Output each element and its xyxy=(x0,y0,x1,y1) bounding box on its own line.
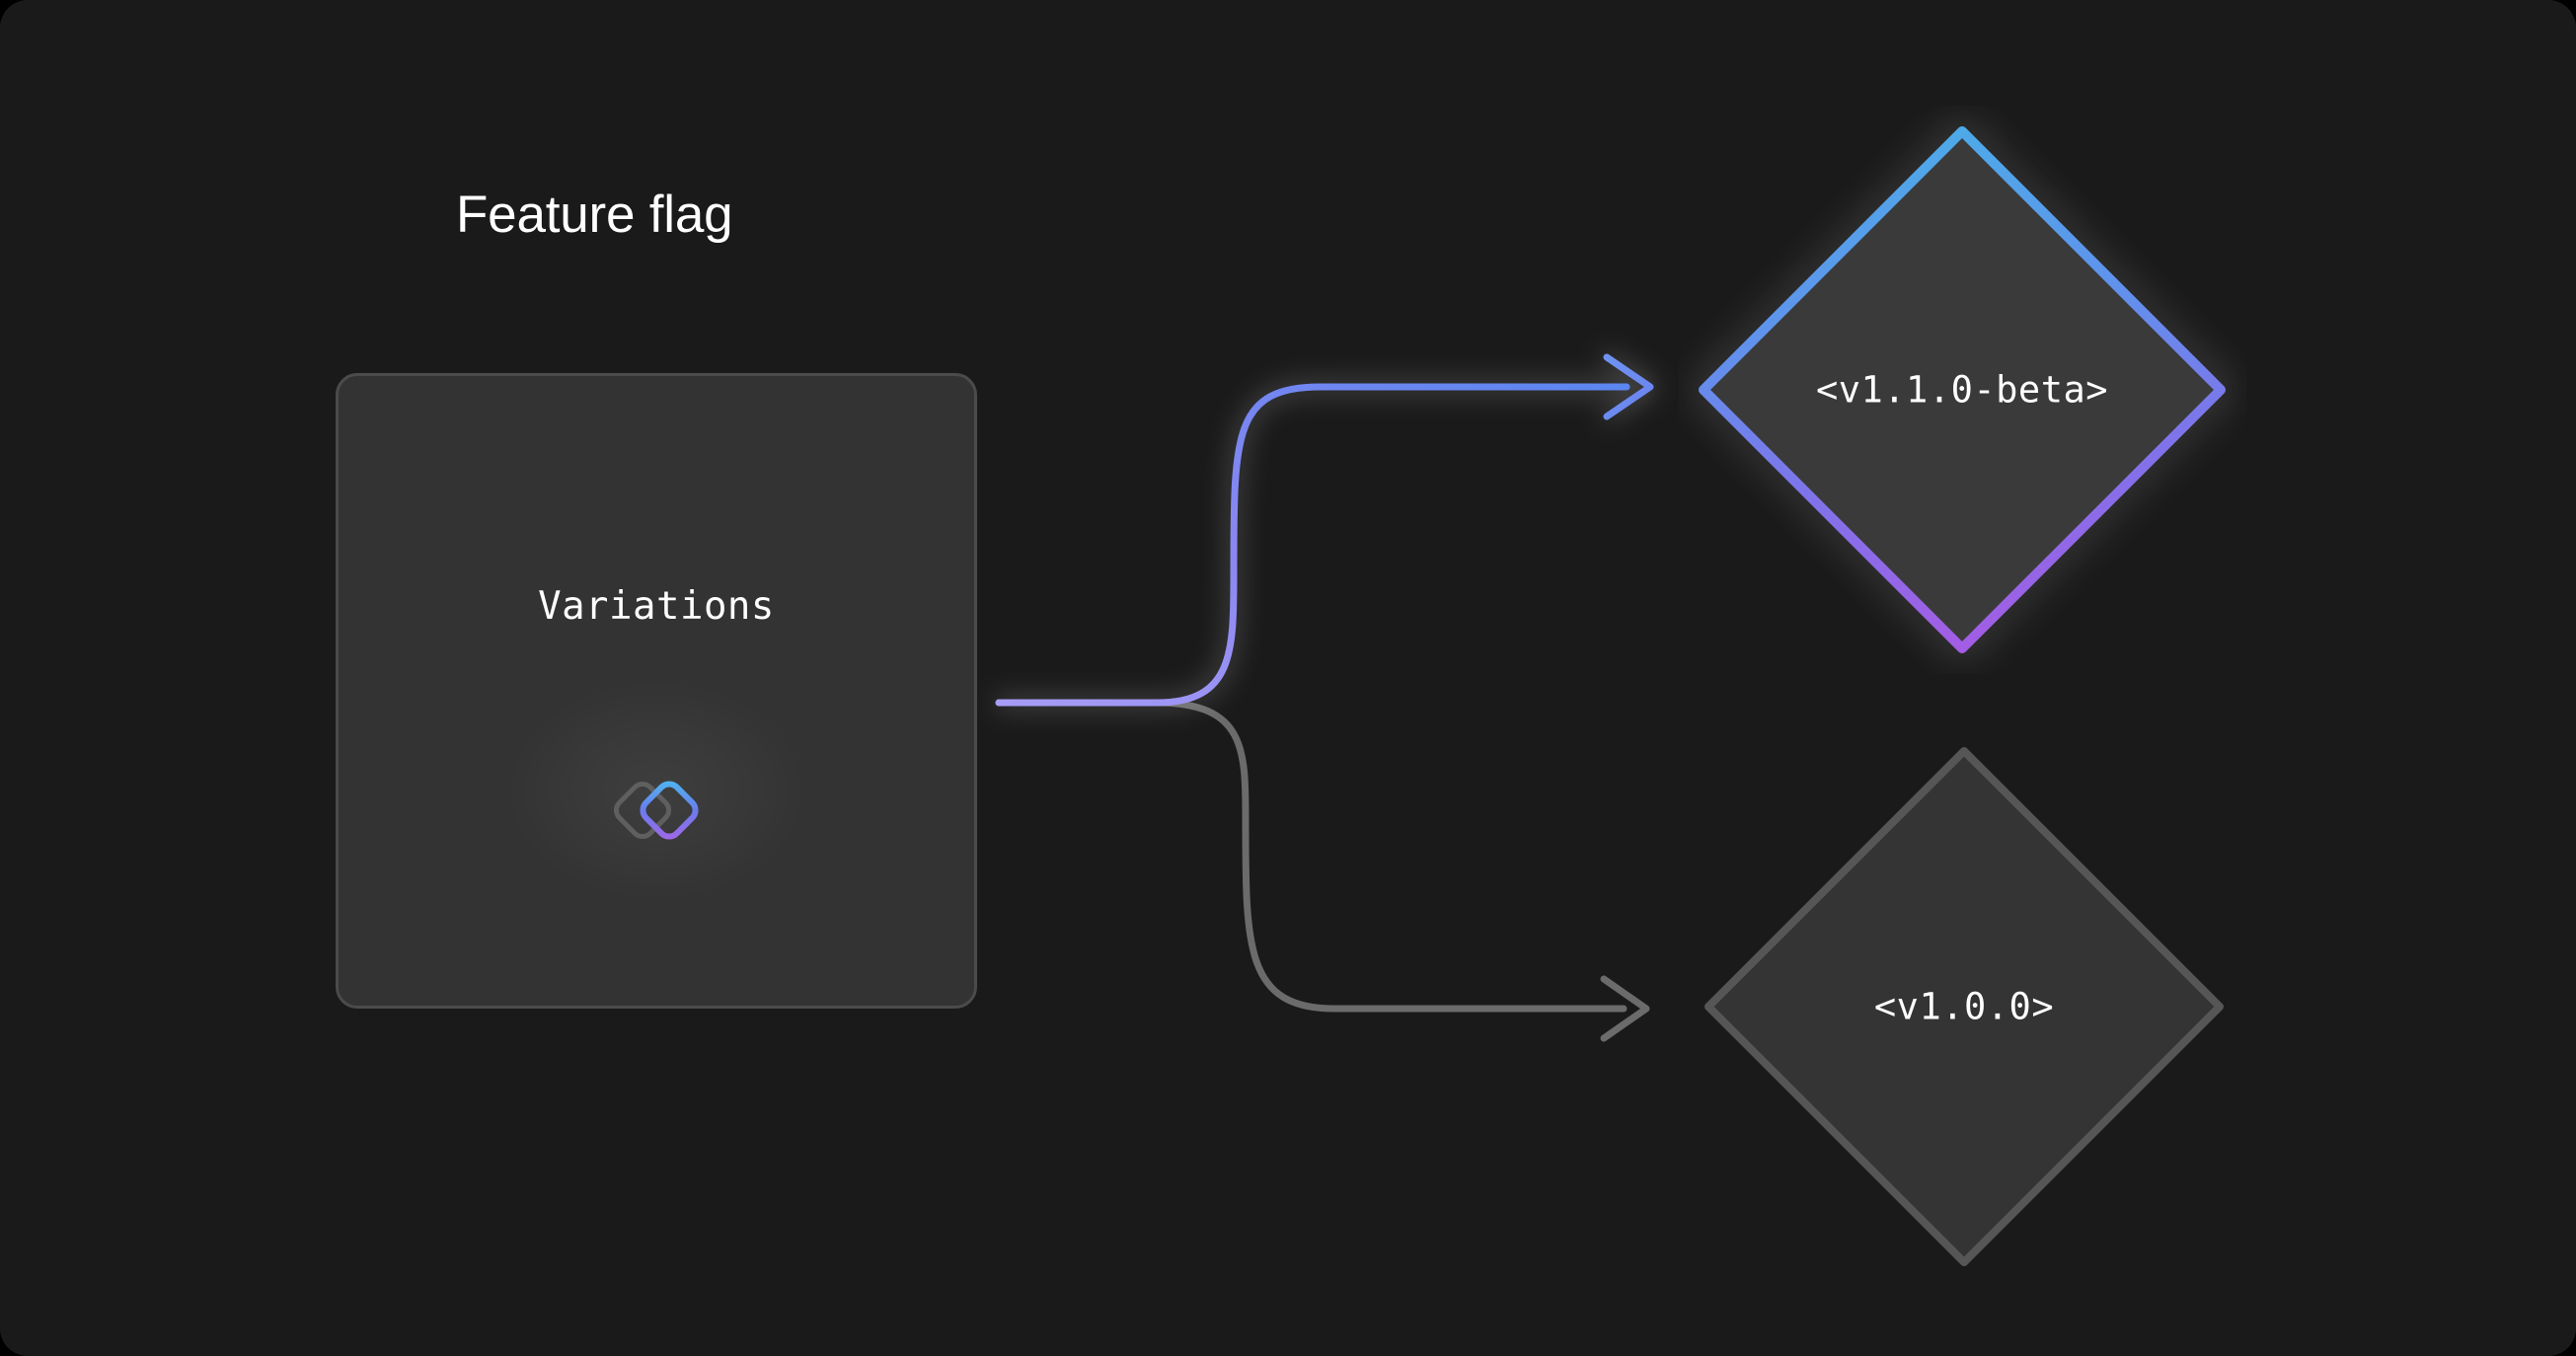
node-v100[interactable]: <v1.0.0> xyxy=(1683,725,2245,1288)
page-title: Feature flag xyxy=(456,184,732,247)
chevron-arrow-icon xyxy=(1604,979,1646,1038)
overlapping-diamonds-icon xyxy=(597,761,716,860)
diagram-canvas: Feature flag xyxy=(0,0,2576,1356)
edge-to-v100 xyxy=(999,703,1646,1038)
variations-label: Variations xyxy=(339,584,974,629)
edge-to-beta-glow xyxy=(999,357,1650,703)
variations-card[interactable]: Variations xyxy=(336,373,977,1009)
node-label-v100: <v1.0.0> xyxy=(1683,986,2245,1028)
node-label-v110-beta: <v1.1.0-beta> xyxy=(1678,369,2246,412)
node-v110-beta[interactable]: <v1.1.0-beta> xyxy=(1678,106,2246,674)
edge-to-beta xyxy=(999,357,1650,703)
chevron-arrow-icon xyxy=(1607,357,1650,416)
